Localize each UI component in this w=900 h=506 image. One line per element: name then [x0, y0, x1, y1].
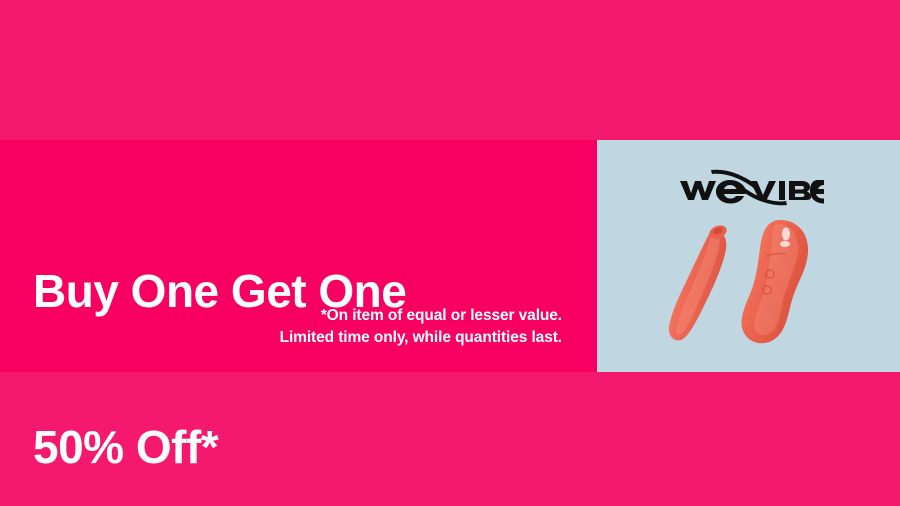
- offer-fineprint: *On item of equal or lesser value. Limit…: [280, 305, 562, 349]
- product-photo: [654, 206, 844, 366]
- product-button-lower: [780, 241, 790, 247]
- product-image-panel: we-vibe: [597, 140, 900, 372]
- offer-banner: Buy One Get One 50% Off* *On item of equ…: [0, 140, 900, 372]
- logo-letter-e-right: [810, 180, 824, 204]
- fineprint-line-2: Limited time only, while quantities last…: [280, 327, 562, 349]
- promo-banner-canvas: Buy One Get One 50% Off* *On item of equ…: [0, 0, 900, 506]
- headline-line-2: 50% Off*: [33, 421, 406, 473]
- logo-letter-w: [680, 181, 716, 200]
- offer-copy-panel: Buy One Get One 50% Off* *On item of equ…: [0, 140, 597, 372]
- logo-letter-e-left: [716, 180, 746, 204]
- we-vibe-logo: we-vibe: [674, 164, 824, 210]
- right-product-icon: [741, 220, 808, 343]
- fineprint-line-1: *On item of equal or lesser value.: [280, 305, 562, 327]
- product-button-upper: [782, 228, 790, 241]
- logo-letter-b: [789, 181, 811, 200]
- logo-letter-i: [779, 181, 785, 200]
- left-product-icon: [668, 223, 728, 340]
